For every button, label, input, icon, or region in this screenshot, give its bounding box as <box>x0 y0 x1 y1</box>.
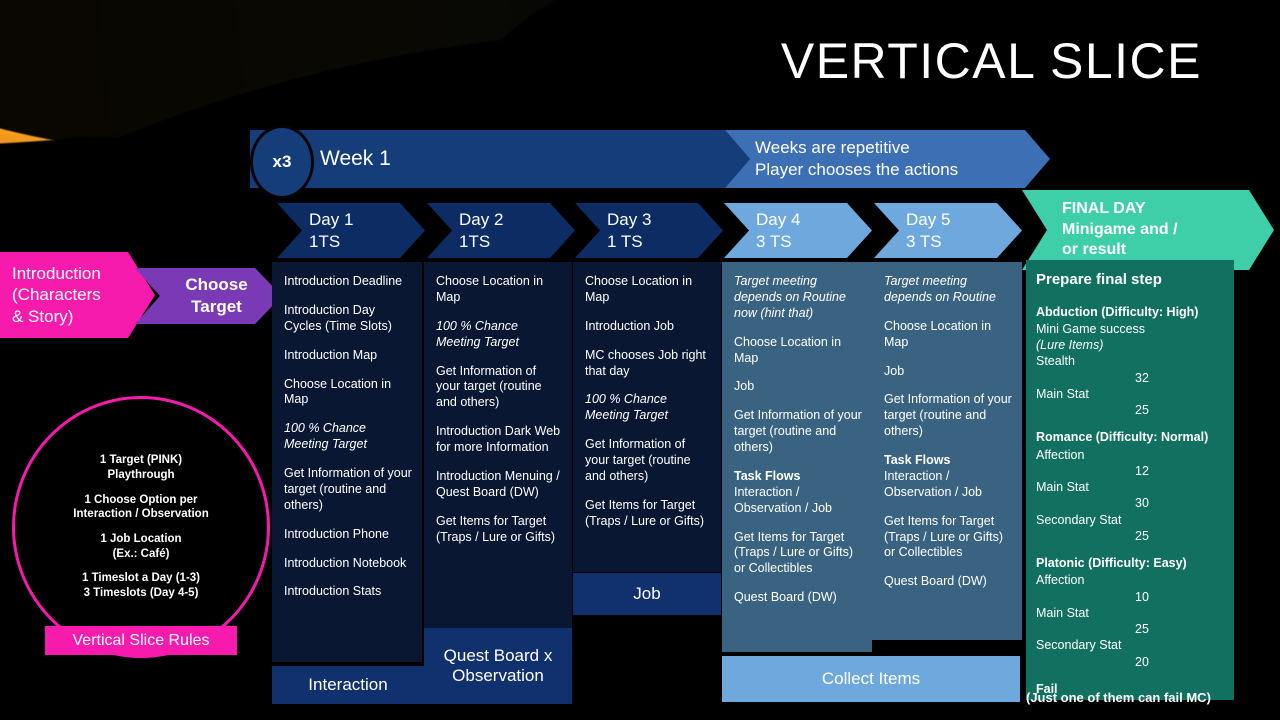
week-label: Week 1 <box>320 130 391 188</box>
day-column-4: Target meeting depends on Routine now (h… <box>722 262 872 652</box>
final-day-header: FINAL DAYMinigame and /or result <box>1022 190 1274 270</box>
introduction-line-1: Introduction <box>12 263 155 285</box>
stat-value: 20 <box>1060 654 1224 670</box>
day-task-item: Choose Location in Map <box>284 377 412 409</box>
day-task-item: Get Information of your target (routine … <box>585 437 711 485</box>
fail-note-text: (Just one of them can fail MC) <box>1026 690 1280 706</box>
day-task-item: Introduction Phone <box>284 527 412 543</box>
day-task-item: Interaction / Observation / Job <box>734 485 862 517</box>
day-title: Day 5 <box>906 209 1022 230</box>
day-header-5[interactable]: Day 53 TS <box>874 203 1022 258</box>
day-task-item: Get Information of your target (routine … <box>734 408 862 456</box>
day-task-item: Get Information of your target (routine … <box>436 364 562 412</box>
stat-value: 25 <box>1060 402 1224 418</box>
day-header-4[interactable]: Day 43 TS <box>724 203 872 258</box>
stat-label: Secondary Stat <box>1036 637 1224 653</box>
difficulty-note: (Lure Items) <box>1036 337 1224 353</box>
day-task-item: Choose Location in Map <box>436 274 562 306</box>
day-task-item: Get Information of your target (routine … <box>884 392 1012 440</box>
day-task-item: Get Items for Target (Traps / Lure or Gi… <box>734 530 862 578</box>
stat-label: Main Stat <box>1036 479 1224 495</box>
rule-line: 1 Choose Option per <box>73 493 208 508</box>
week-note-line-1: Weeks are repetitive <box>755 137 958 159</box>
choose-target-line-2: Target <box>191 296 242 318</box>
day-title: Day 1 <box>309 209 425 230</box>
day-task-item: MC chooses Job right that day <box>585 348 711 380</box>
day-title: Day 4 <box>756 209 872 230</box>
rule-line: Playthrough <box>100 468 182 483</box>
week-repeat-badge: x3 <box>250 125 314 199</box>
choose-target-line-1: Choose <box>185 274 247 296</box>
week-banner: Weeks are repetitive Player chooses the … <box>250 130 1050 188</box>
day-timeslots: 1TS <box>309 231 425 252</box>
final-panel-title: Prepare final step <box>1036 270 1224 290</box>
introduction-line-2: (Characters <box>12 284 155 306</box>
day-task-item: Target meeting depends on Routine <box>884 274 1012 306</box>
stat-label: Stealth <box>1036 353 1224 369</box>
day-timeslots: 3 TS <box>906 231 1022 252</box>
rule-line: 3 Timeslots (Day 4-5) <box>82 586 200 601</box>
day-task-item: Get Items for Target (Traps / Lure or Gi… <box>436 514 562 546</box>
stat-label: Affection <box>1036 572 1224 588</box>
week-banner-right-segment: Weeks are repetitive Player chooses the … <box>725 130 1050 188</box>
day-task-item: Interaction / Observation / Job <box>884 469 1012 501</box>
day-task-item: Introduction Dark Web for more Informati… <box>436 424 562 456</box>
day-timeslots: 1TS <box>459 231 575 252</box>
rule-item: 1 Timeslot a Day (1-3)3 Timeslots (Day 4… <box>82 571 200 600</box>
rule-line: (Ex.: Café) <box>100 547 181 562</box>
difficulty-heading: Platonic (Difficulty: Easy) <box>1036 555 1224 571</box>
stat-label: Main Stat <box>1036 386 1224 402</box>
rule-line: 1 Target (PINK) <box>100 453 182 468</box>
day-title: Day 3 <box>607 209 723 230</box>
stat-value: 25 <box>1060 528 1224 544</box>
stat-value: 10 <box>1060 589 1224 605</box>
day-task-item: Task Flows <box>884 453 1012 469</box>
day-task-item: Quest Board (DW) <box>734 590 862 606</box>
day-task-item: Introduction Menuing / Quest Board (DW) <box>436 469 562 501</box>
day-task-item: Choose Location in Map <box>884 319 1012 351</box>
rule-line: 1 Job Location <box>100 532 181 547</box>
stat-label: Main Stat <box>1036 605 1224 621</box>
day-task-item: Choose Location in Map <box>734 335 862 367</box>
rule-item: 1 Choose Option perInteraction / Observa… <box>73 493 208 522</box>
vertical-slice-rules-label: Vertical Slice Rules <box>45 626 237 655</box>
day-task-item: Introduction Day Cycles (Time Slots) <box>284 303 412 335</box>
day-column-2: Choose Location in Map100 % Chance Meeti… <box>424 262 572 630</box>
day-footer-1[interactable]: Interaction <box>272 666 424 704</box>
rule-line: 1 Timeslot a Day (1-3) <box>82 571 200 586</box>
day-timeslots: 1 TS <box>607 231 723 252</box>
choose-target-arrow: Choose Target <box>135 268 282 324</box>
final-day-header-line-2: Minigame and / <box>1062 220 1274 241</box>
stat-value: 32 <box>1060 370 1224 386</box>
day-footer-3[interactable]: Job <box>573 573 721 615</box>
day-task-item: Task Flows <box>734 469 862 485</box>
day-footer-2[interactable]: Quest Board x Observation <box>424 628 572 704</box>
day-title: Day 2 <box>459 209 575 230</box>
day-task-item: Target meeting depends on Routine now (h… <box>734 274 862 322</box>
day-task-item: Choose Location in Map <box>585 274 711 306</box>
rule-line: Interaction / Observation <box>73 507 208 522</box>
day-header-3[interactable]: Day 31 TS <box>575 203 723 258</box>
stat-value: 25 <box>1060 621 1224 637</box>
day-task-item: Introduction Stats <box>284 584 412 600</box>
day-task-item: Introduction Map <box>284 348 412 364</box>
day-task-item: Job <box>884 364 1012 380</box>
day-column-5: Target meeting depends on RoutineChoose … <box>872 262 1022 640</box>
day-task-item: Get Items for Target (Traps / Lure or Gi… <box>585 498 711 530</box>
day-footer-4[interactable]: Collect Items <box>722 656 1020 702</box>
day-task-item: 100 % Chance Meeting Target <box>284 421 412 453</box>
introduction-line-3: & Story) <box>12 306 155 328</box>
rule-item: 1 Job Location(Ex.: Café) <box>100 532 181 561</box>
day-task-item: Get Items for Target (Traps / Lure or Gi… <box>884 514 1012 562</box>
day-header-1[interactable]: Day 11TS <box>277 203 425 258</box>
stat-label: Secondary Stat <box>1036 512 1224 528</box>
vertical-slice-rules-circle: 1 Target (PINK)Playthrough1 Choose Optio… <box>12 396 270 658</box>
stat-value: 12 <box>1060 463 1224 479</box>
day-task-item: Quest Board (DW) <box>884 574 1012 590</box>
stat-label: Affection <box>1036 447 1224 463</box>
final-day-panel: Prepare final stepAbduction (Difficulty:… <box>1026 260 1234 700</box>
difficulty-group: Abduction (Difficulty: High)Mini Game su… <box>1036 304 1224 419</box>
stat-value: 30 <box>1060 495 1224 511</box>
day-task-item: Job <box>734 379 862 395</box>
difficulty-group: Platonic (Difficulty: Easy)Affection10Ma… <box>1036 555 1224 670</box>
day-task-item: Introduction Job <box>585 319 711 335</box>
day-column-1: Introduction DeadlineIntroduction Day Cy… <box>272 262 422 662</box>
day-task-item: Get Information of your target (routine … <box>284 466 412 514</box>
day-column-3: Choose Location in MapIntroduction JobMC… <box>573 262 721 572</box>
final-day-header-line-3: or result <box>1062 240 1274 261</box>
day-task-item: 100 % Chance Meeting Target <box>585 392 711 424</box>
rule-item: 1 Target (PINK)Playthrough <box>100 453 182 482</box>
difficulty-heading: Romance (Difficulty: Normal) <box>1036 429 1224 445</box>
difficulty-note: Mini Game success <box>1036 321 1224 337</box>
introduction-arrow: Introduction (Characters & Story) <box>0 252 155 338</box>
day-task-item: 100 % Chance Meeting Target <box>436 319 562 351</box>
difficulty-group: Romance (Difficulty: Normal)Affection12M… <box>1036 429 1224 544</box>
page-title: VERTICAL SLICE <box>781 36 1202 86</box>
week-note-line-2: Player chooses the actions <box>755 159 958 181</box>
day-task-item: Introduction Deadline <box>284 274 412 290</box>
day-task-item: Introduction Notebook <box>284 556 412 572</box>
final-day-header-line-1: FINAL DAY <box>1062 199 1274 220</box>
difficulty-heading: Abduction (Difficulty: High) <box>1036 304 1224 320</box>
day-header-2[interactable]: Day 21TS <box>427 203 575 258</box>
day-timeslots: 3 TS <box>756 231 872 252</box>
week-repetition-note: Weeks are repetitive Player chooses the … <box>755 130 958 188</box>
